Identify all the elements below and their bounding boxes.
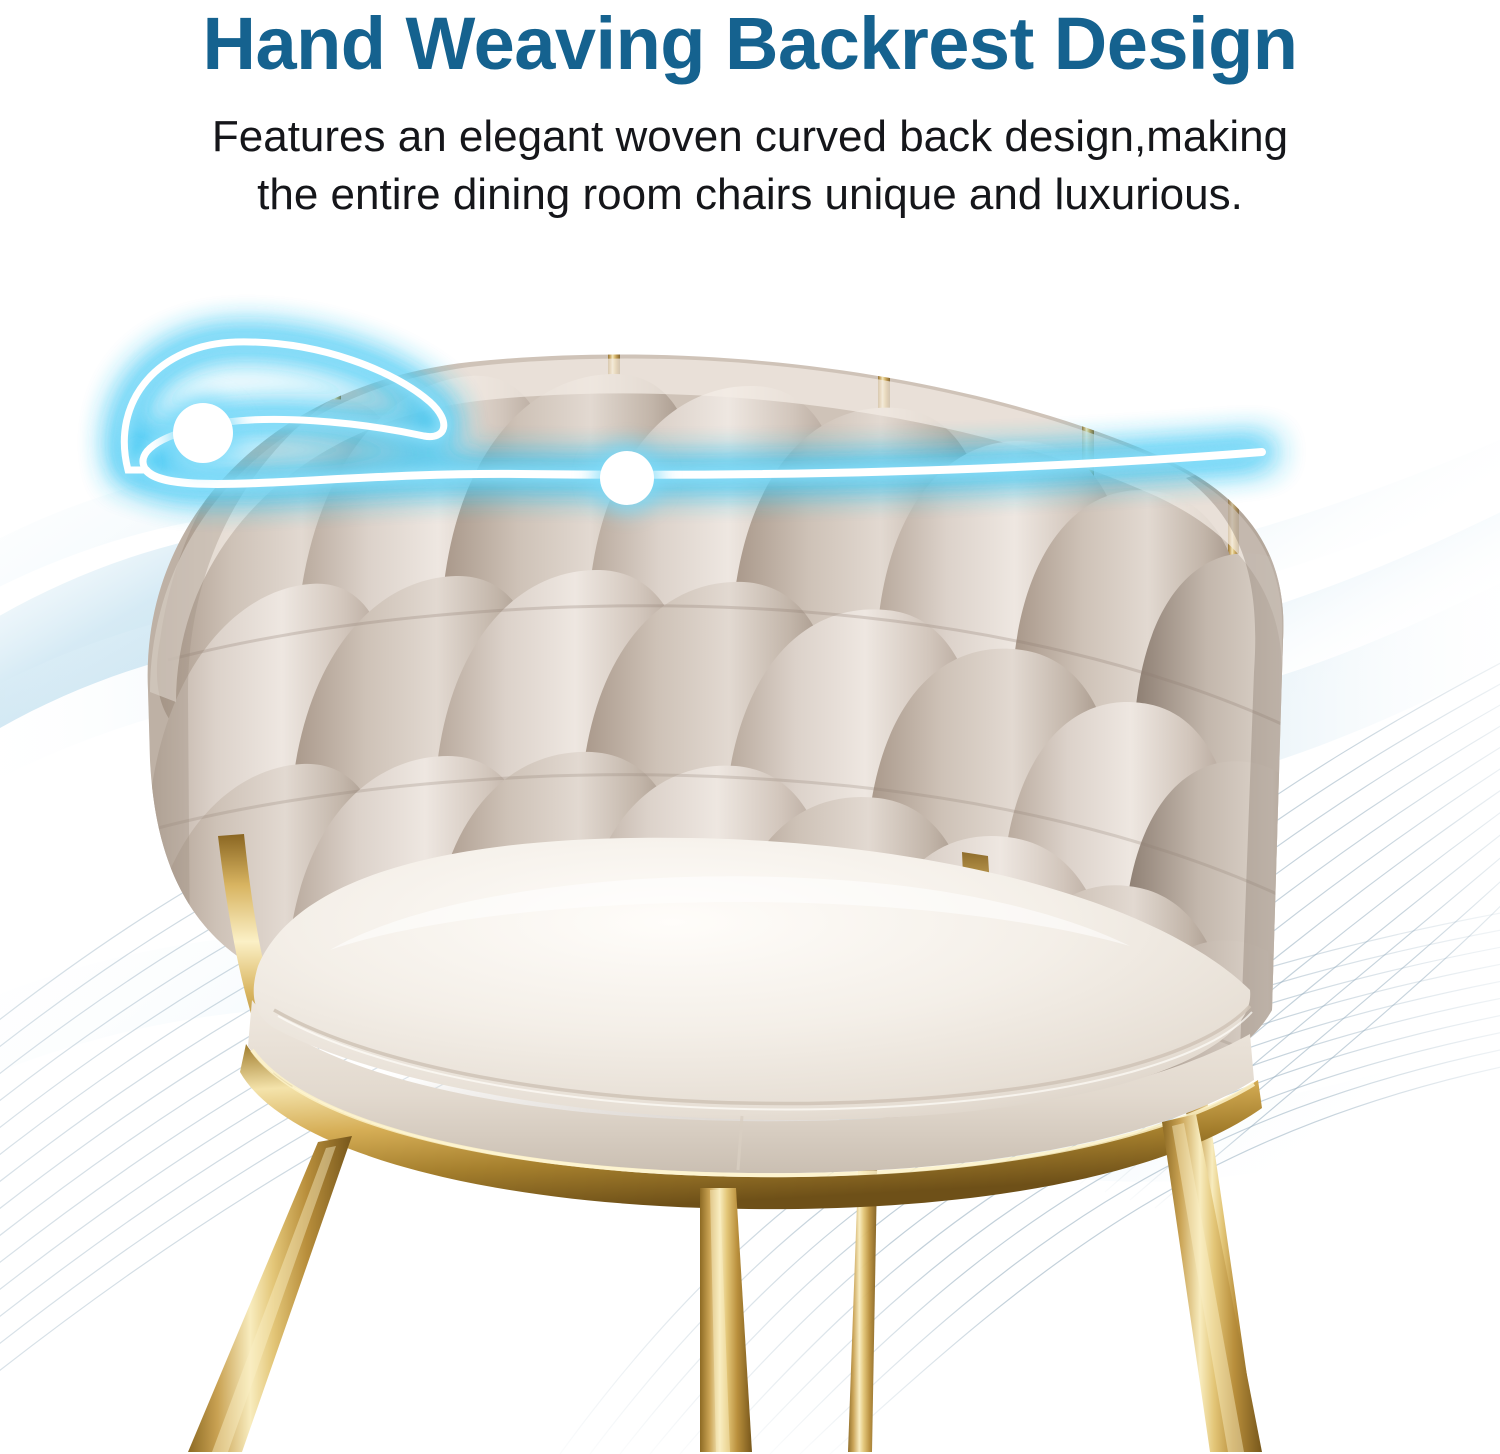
header-text-block: Hand Weaving Backrest Design Features an… [0,0,1500,224]
page-subtitle: Features an elegant woven curved back de… [105,86,1395,224]
product-feature-card: Hand Weaving Backrest Design Features an… [0,0,1500,1454]
page-title: Hand Weaving Backrest Design [0,0,1500,86]
page-subtitle-line-1: Features an elegant woven curved back de… [212,112,1288,161]
page-subtitle-line-2: the entire dining room chairs unique and… [257,170,1243,219]
